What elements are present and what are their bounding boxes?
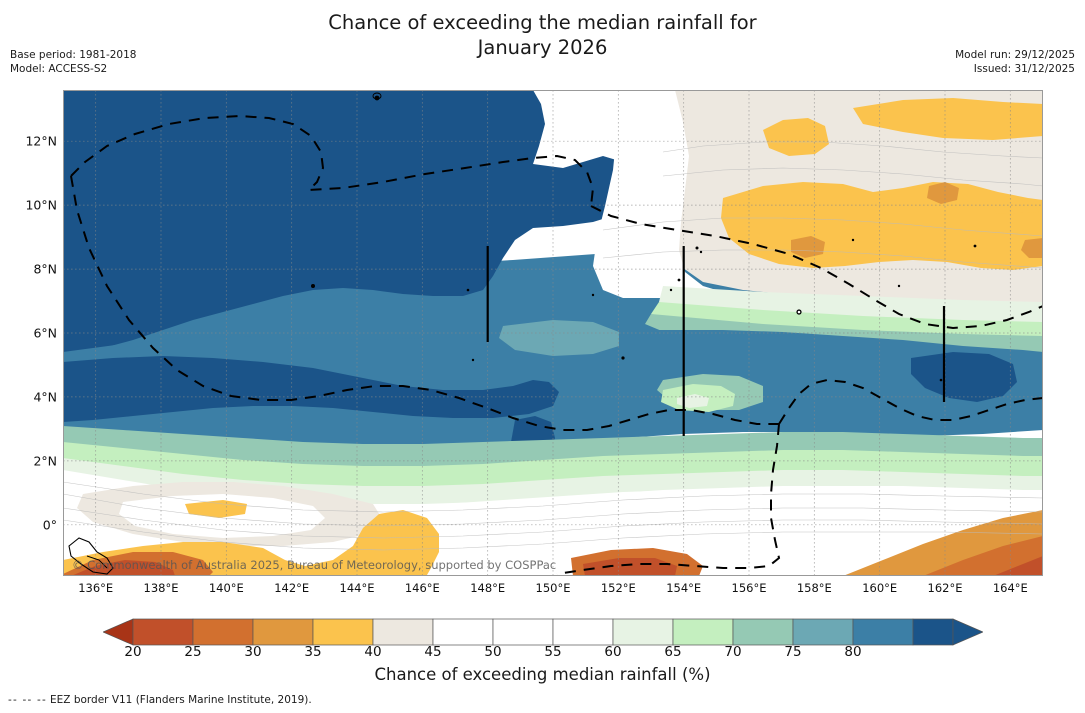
- cb-tick-55: 55: [544, 644, 561, 660]
- x-tick-142E: 142°E: [274, 581, 309, 595]
- x-tick-138E: 138°E: [144, 581, 179, 595]
- x-tick-146E: 146°E: [405, 581, 440, 595]
- colorbar-tick-labels: 20 25 30 35 40 45 50 55 60 65 70 75 80: [103, 644, 983, 662]
- base-period-text: Base period: 1981-2018: [10, 49, 136, 63]
- y-tick-2N: 2°N: [33, 453, 57, 468]
- y-tick-10N: 10°N: [25, 198, 57, 213]
- cb-tick-40: 40: [364, 644, 381, 660]
- x-tick-160E: 160°E: [862, 581, 897, 595]
- colorbar-svg: [103, 618, 983, 646]
- cb-tick-45: 45: [424, 644, 441, 660]
- cb-tick-50: 50: [484, 644, 501, 660]
- cb-tick-30: 30: [244, 644, 261, 660]
- x-axis-tick-labels: 136°E 138°E 140°E 142°E 144°E 146°E 148°…: [63, 581, 1043, 599]
- cb-tick-75: 75: [784, 644, 801, 660]
- model-run-text: Model run: 29/12/2025: [955, 49, 1075, 63]
- y-tick-8N: 8°N: [33, 262, 57, 277]
- metadata-left: Base period: 1981-2018 Model: ACCESS-S2: [10, 49, 136, 76]
- metadata-right: Model run: 29/12/2025 Issued: 31/12/2025: [955, 49, 1075, 76]
- x-tick-140E: 140°E: [209, 581, 244, 595]
- title-line-2: January 2026: [0, 35, 1085, 60]
- rainfall-probability-map[interactable]: [63, 90, 1043, 576]
- y-tick-4N: 4°N: [33, 389, 57, 404]
- y-tick-0: 0°: [43, 517, 57, 532]
- colorbar-axis-label: Chance of exceeding median rainfall (%): [0, 665, 1085, 684]
- colorbar-extend-high: [953, 619, 983, 645]
- x-tick-162E: 162°E: [928, 581, 963, 595]
- x-tick-156E: 156°E: [732, 581, 767, 595]
- y-tick-12N: 12°N: [25, 134, 57, 149]
- x-tick-158E: 158°E: [797, 581, 832, 595]
- x-tick-154E: 154°E: [666, 581, 701, 595]
- x-tick-136E: 136°E: [78, 581, 113, 595]
- title-line-1: Chance of exceeding the median rainfall …: [0, 10, 1085, 35]
- colorbar: [103, 618, 983, 646]
- x-tick-148E: 148°E: [470, 581, 505, 595]
- page-title: Chance of exceeding the median rainfall …: [0, 10, 1085, 60]
- y-tick-6N: 6°N: [33, 326, 57, 341]
- map-contour-svg: [63, 90, 1043, 576]
- x-tick-144E: 144°E: [340, 581, 375, 595]
- issued-text: Issued: 31/12/2025: [955, 63, 1075, 77]
- colorbar-segments: [133, 619, 953, 645]
- cb-tick-65: 65: [664, 644, 681, 660]
- cb-tick-60: 60: [604, 644, 621, 660]
- colorbar-extend-low: [103, 619, 133, 645]
- cb-tick-25: 25: [184, 644, 201, 660]
- x-tick-164E: 164°E: [993, 581, 1028, 595]
- eez-footer-text: EEZ border V11 (Flanders Marine Institut…: [50, 694, 312, 706]
- model-text: Model: ACCESS-S2: [10, 63, 136, 77]
- footer-legend: -- -- --EEZ border V11 (Flanders Marine …: [8, 694, 312, 706]
- x-tick-152E: 152°E: [601, 581, 636, 595]
- x-tick-150E: 150°E: [536, 581, 571, 595]
- cb-tick-70: 70: [724, 644, 741, 660]
- y-axis-tick-labels: 12°N 10°N 8°N 6°N 4°N 2°N 0°: [0, 90, 57, 576]
- eez-dash-key: -- -- --: [8, 694, 47, 706]
- cb-tick-20: 20: [124, 644, 141, 660]
- cb-tick-80: 80: [844, 644, 861, 660]
- cb-tick-35: 35: [304, 644, 321, 660]
